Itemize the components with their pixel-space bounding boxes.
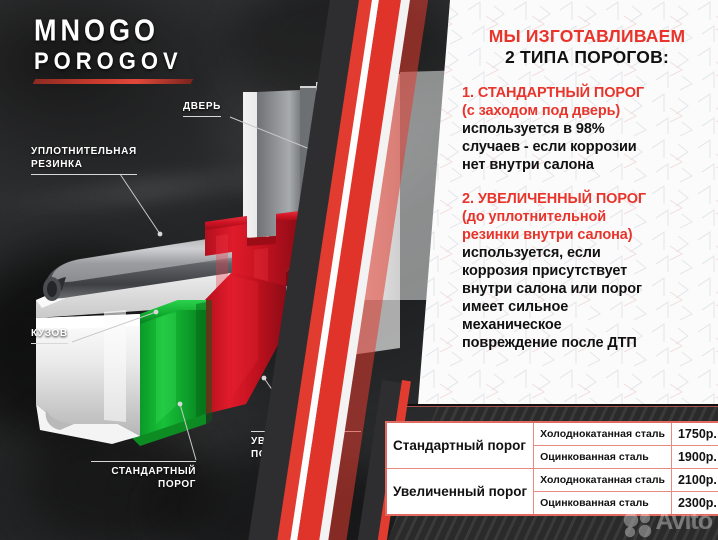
callout-door-label: ДВЕРЬ	[183, 101, 221, 112]
callout-seal: УПЛОТНИТЕЛЬНАЯ РЕЗИНКА	[31, 145, 137, 175]
callout-standard: СТАНДАРТНЫЙ ПОРОГ	[91, 461, 196, 491]
table-cell-price: 2300р.	[671, 492, 718, 516]
section-extended-body-line: механическое	[462, 316, 712, 334]
logo-line-porogov: POROGOV	[34, 48, 194, 73]
brand-logo: MNOGO POROGOV	[34, 16, 194, 84]
callout-seal-line1: УПЛОТНИТЕЛЬНАЯ	[31, 145, 137, 158]
logo-line-mnogo: MNOGO	[34, 16, 194, 45]
section-extended-body-line: внутри салона или порог	[462, 280, 712, 298]
section-extended-body-line: повреждение после ДТП	[462, 334, 712, 352]
table-row: Стандартный порог Холоднокатанная сталь …	[386, 422, 718, 446]
table-row: Увеличенный порог Холоднокатанная сталь …	[386, 469, 718, 492]
strip-red-divider	[398, 406, 718, 407]
price-table: Стандартный порог Холоднокатанная сталь …	[385, 421, 718, 516]
callout-body-label: КУЗОВ	[31, 328, 68, 339]
section-standard-title: 1. СТАНДАРТНЫЙ ПОРОГ	[462, 84, 712, 102]
section-extended-title: 2. УВЕЛИЧЕННЫЙ ПОРОГ	[462, 190, 712, 208]
table-cell-material: Оцинкованная сталь	[534, 492, 672, 516]
callout-seal-line2: РЕЗИНКА	[31, 158, 137, 171]
table-cell-category: Увеличенный порог	[386, 469, 534, 516]
info-text-block: МЫ ИЗГОТАВЛИВАЕМ 2 ТИПА ПОРОГОВ: 1. СТАН…	[462, 26, 712, 352]
section-extended-subtitle-line: резинки внутри салона)	[462, 226, 712, 244]
section-extended-body-line: имеет сильное	[462, 298, 712, 316]
section-extended: 2. УВЕЛИЧЕННЫЙ ПОРОГ (до уплотнительной …	[462, 190, 712, 352]
section-standard-body-line: случаев - если коррозии	[462, 138, 712, 156]
table-cell-price: 1750р.	[671, 422, 718, 446]
callout-body: КУЗОВ	[31, 327, 68, 344]
section-extended-body-line: используется, если	[462, 244, 712, 262]
poster-root: ДВЕРЬ УПЛОТНИТЕЛЬНАЯ РЕЗИНКА КУЗОВ СТАНД…	[0, 0, 718, 540]
table-cell-price: 1900р.	[671, 446, 718, 469]
table-cell-category: Стандартный порог	[386, 422, 534, 469]
table-cell-price: 2100р.	[671, 469, 718, 492]
section-standard-body-line: нет внутри салона	[462, 156, 712, 174]
section-standard-subtitle: (с заходом под дверь)	[462, 102, 712, 120]
table-cell-material: Холоднокатанная сталь	[534, 422, 672, 446]
headline-line2: 2 ТИПА ПОРОГОВ:	[462, 47, 712, 68]
headline-line1: МЫ ИЗГОТАВЛИВАЕМ	[462, 26, 712, 47]
table-cell-material: Холоднокатанная сталь	[534, 469, 672, 492]
section-extended-subtitle-line: (до уплотнительной	[462, 208, 712, 226]
logo-swoosh	[33, 79, 194, 84]
callout-standard-line2: ПОРОГ	[91, 478, 196, 491]
section-standard-body-line: используется в 98%	[462, 120, 712, 138]
section-extended-body-line: коррозия присутствует	[462, 262, 712, 280]
callout-door: ДВЕРЬ	[183, 100, 221, 117]
table-cell-material: Оцинкованная сталь	[534, 446, 672, 469]
section-standard: 1. СТАНДАРТНЫЙ ПОРОГ (с заходом под двер…	[462, 84, 712, 174]
callout-standard-line1: СТАНДАРТНЫЙ	[91, 465, 196, 478]
